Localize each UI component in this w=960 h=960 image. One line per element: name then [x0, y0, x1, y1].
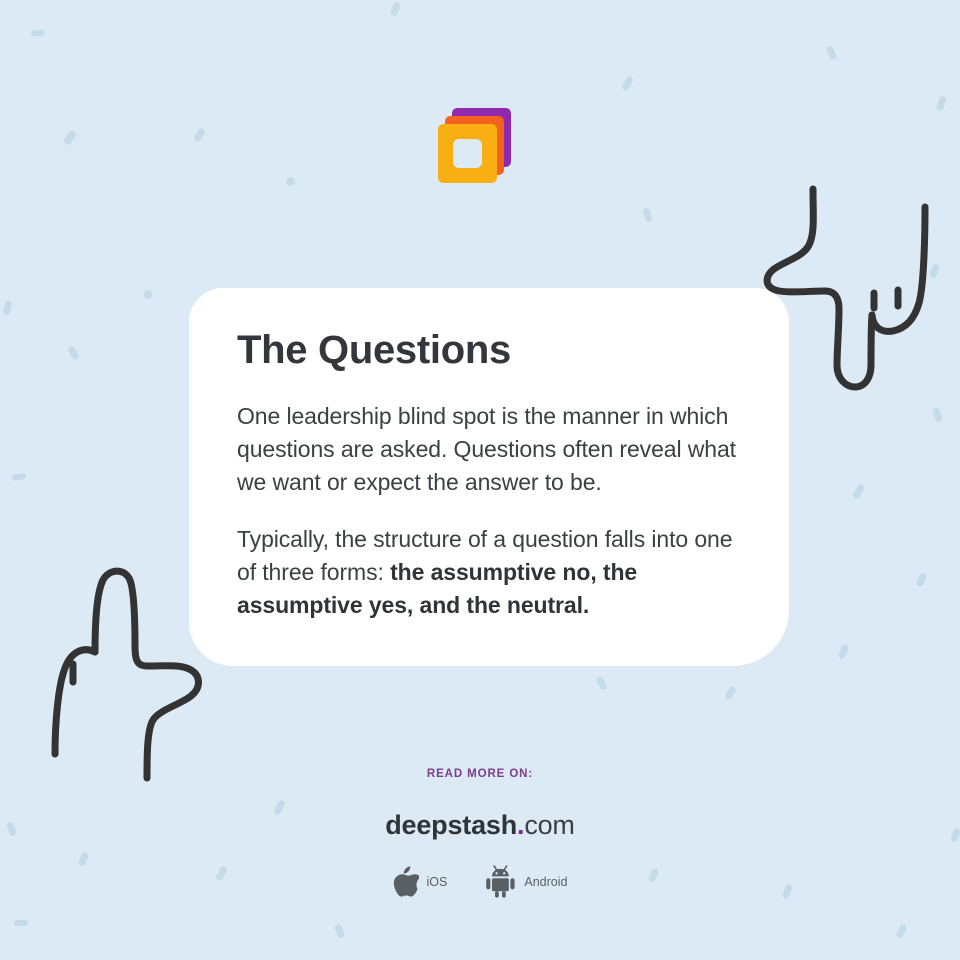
decor-dash: [2, 299, 12, 315]
decor-dash: [334, 923, 346, 939]
decor-dash: [390, 1, 402, 17]
decor-dash: [621, 75, 634, 92]
decor-dash: [31, 30, 45, 37]
decor-dash: [595, 675, 607, 691]
stacked-squares-icon: [425, 100, 520, 195]
poster-canvas: The Questions One leadership blind spot …: [0, 0, 960, 960]
deepstash-logo: [425, 100, 520, 195]
decor-dash: [286, 177, 295, 186]
brand-name: deepstash: [385, 810, 517, 840]
footer: READ MORE ON: deepstash.com iOS: [0, 768, 960, 898]
store-badge-android[interactable]: Android: [485, 865, 567, 898]
decor-dash: [929, 263, 940, 278]
page-title: The Questions: [237, 328, 741, 372]
store-badge-ios[interactable]: iOS: [393, 866, 448, 897]
decor-dash: [915, 572, 927, 588]
card-paragraph-1: One leadership blind spot is the manner …: [237, 400, 741, 499]
brand-tld: com: [524, 810, 574, 840]
decor-dash: [62, 129, 77, 146]
decor-dash: [67, 345, 80, 361]
decor-dash: [12, 473, 27, 481]
card-paragraph-2: Typically, the structure of a question f…: [237, 523, 741, 622]
read-more-label: READ MORE ON:: [0, 768, 960, 780]
decor-dash: [193, 127, 206, 143]
decor-dash: [895, 923, 907, 939]
store-badges: iOS And: [0, 865, 960, 898]
decor-dash: [932, 407, 943, 422]
apple-icon: [393, 866, 419, 897]
content-card: The Questions One leadership blind spot …: [189, 288, 789, 666]
decor-dash: [852, 483, 866, 499]
decor-dash: [936, 95, 948, 111]
decor-dash: [144, 290, 152, 299]
decor-dash: [642, 207, 653, 222]
store-label-android: Android: [524, 875, 567, 889]
decor-dash: [724, 685, 737, 701]
decor-dash: [837, 643, 849, 660]
store-label-ios: iOS: [427, 875, 448, 889]
decor-dash: [825, 45, 837, 61]
decor-dash: [14, 920, 28, 926]
android-icon: [485, 865, 516, 898]
brand-wordmark[interactable]: deepstash.com: [0, 810, 960, 841]
